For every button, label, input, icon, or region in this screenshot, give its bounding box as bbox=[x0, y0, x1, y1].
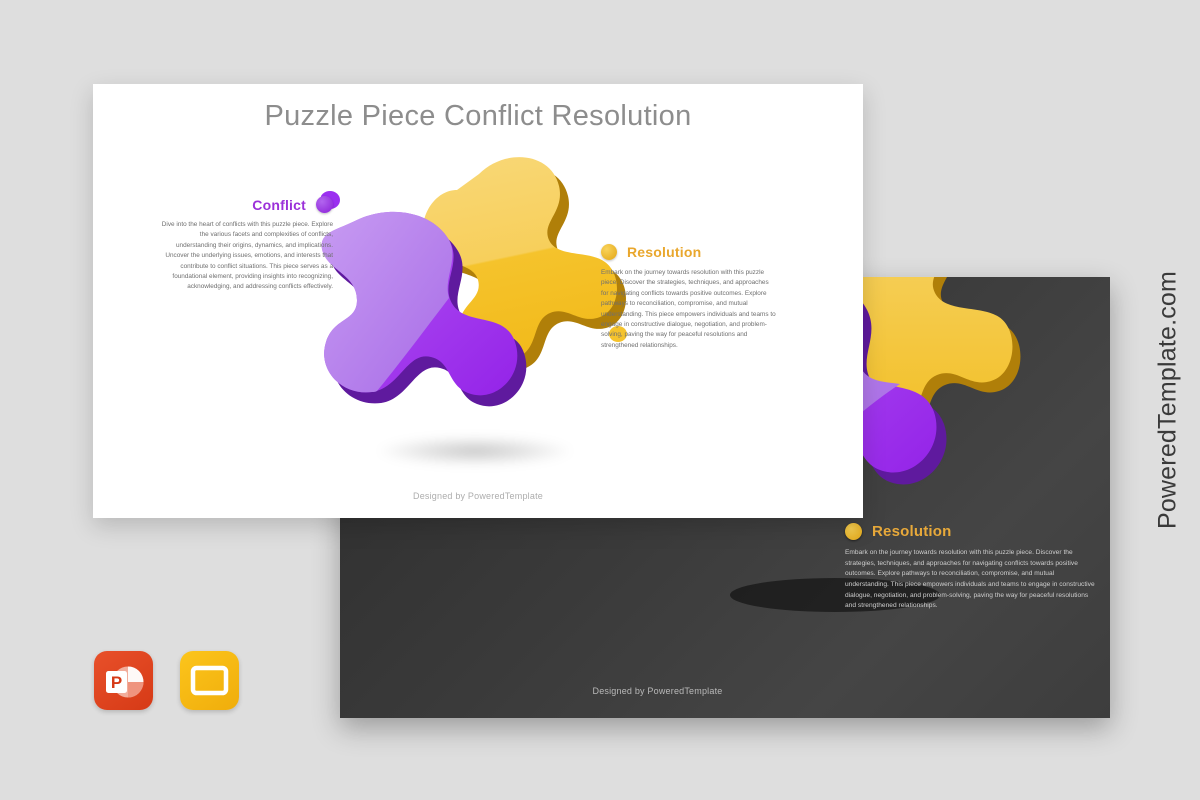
powerpoint-icon-letter: P bbox=[111, 673, 122, 692]
resolution-heading: Resolution bbox=[627, 244, 701, 260]
powerpoint-icon[interactable]: P bbox=[94, 651, 153, 710]
light-slide-footer: Designed by PoweredTemplate bbox=[93, 491, 863, 501]
brand-watermark-wrapper: PoweredTemplate.com bbox=[1045, 0, 1200, 800]
app-format-icons: P bbox=[94, 651, 239, 710]
yellow-dot-icon bbox=[845, 523, 862, 540]
light-slide-preview[interactable]: Puzzle Piece Conflict Resolution bbox=[93, 84, 863, 518]
google-slides-icon[interactable] bbox=[180, 651, 239, 710]
conflict-heading-row: Conflict bbox=[161, 196, 333, 213]
conflict-block: Conflict Dive into the heart of conflict… bbox=[161, 196, 333, 293]
resolution-block: Resolution Embark on the journey towards… bbox=[601, 244, 776, 351]
slide-preview-stage: Puzzle Piece Conflict Resolution bbox=[0, 0, 1200, 800]
light-slide-title: Puzzle Piece Conflict Resolution bbox=[93, 100, 863, 133]
conflict-heading: Conflict bbox=[252, 197, 306, 213]
brand-watermark: PoweredTemplate.com bbox=[1153, 271, 1182, 529]
purple-dot-icon bbox=[316, 196, 333, 213]
yellow-dot-icon bbox=[601, 244, 617, 260]
light-slide-puzzle-shadow bbox=[375, 436, 575, 466]
resolution-body: Embark on the journey towards resolution… bbox=[601, 268, 776, 351]
resolution-heading-row: Resolution bbox=[601, 244, 776, 260]
dark-slide-footer: Designed by PoweredTemplate bbox=[340, 686, 1110, 696]
conflict-body: Dive into the heart of conflicts with th… bbox=[161, 220, 333, 293]
dark-slide-resolution-heading: Resolution bbox=[872, 523, 952, 540]
